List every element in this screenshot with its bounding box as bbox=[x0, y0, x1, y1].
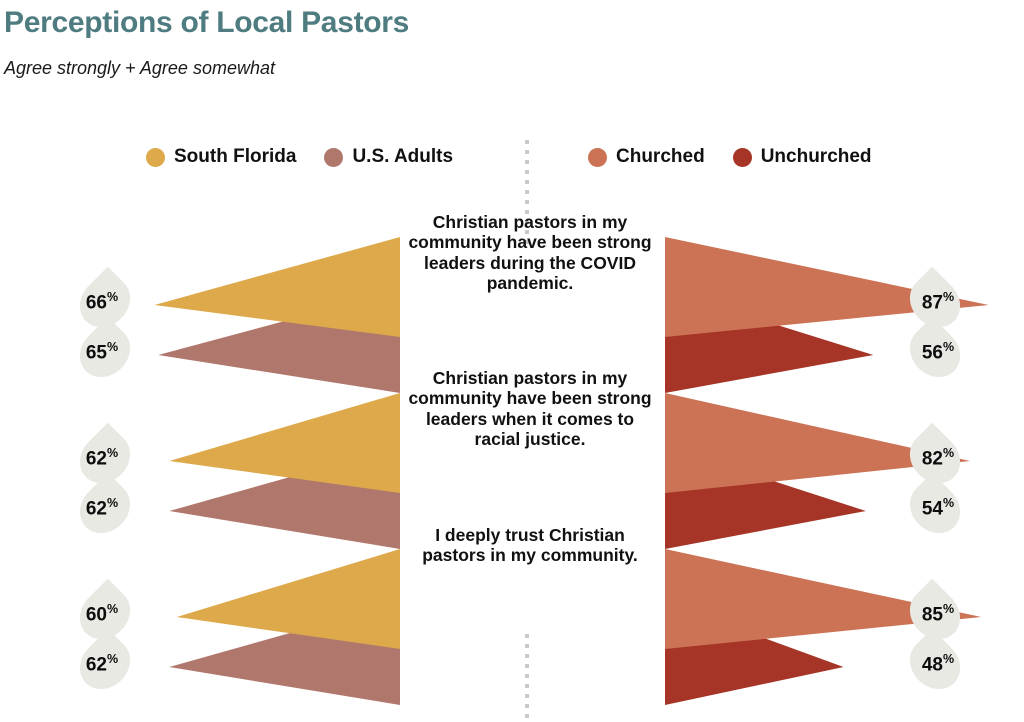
circle-swatch-icon bbox=[146, 148, 165, 167]
value-text: 87% bbox=[922, 291, 954, 312]
wedge-south-florida bbox=[154, 237, 400, 337]
circle-swatch-icon bbox=[324, 148, 343, 167]
value-text: 82% bbox=[922, 447, 954, 468]
chart-row: I deeply trust Christian pastors in my c… bbox=[0, 497, 1024, 652]
chart-plot-area: Christian pastors in my community have b… bbox=[0, 185, 1024, 722]
value-text: 60% bbox=[86, 603, 118, 624]
question-text: Christian pastors in my community have b… bbox=[405, 212, 655, 293]
legend-group-right: Churched Unchurched bbox=[588, 142, 872, 172]
legend-item-us-adults[interactable]: U.S. Adults bbox=[324, 142, 453, 172]
value-text: 54% bbox=[922, 497, 954, 518]
value-text: 65% bbox=[86, 341, 118, 362]
legend-label-us-adults: U.S. Adults bbox=[352, 146, 453, 168]
value-text: 85% bbox=[922, 603, 954, 624]
circle-swatch-icon bbox=[733, 148, 752, 167]
value-label-churched: 87% bbox=[908, 279, 962, 325]
value-text: 48% bbox=[922, 653, 954, 674]
value-label-churched: 82% bbox=[908, 435, 962, 481]
legend-label-south-florida: South Florida bbox=[174, 146, 296, 168]
wedge-south-florida bbox=[169, 393, 400, 493]
value-label-us-adults: 62% bbox=[78, 641, 132, 687]
chart-subtitle: Agree strongly + Agree somewhat bbox=[4, 58, 275, 79]
legend-group-left: South Florida U.S. Adults bbox=[146, 142, 453, 172]
value-text: 62% bbox=[86, 497, 118, 518]
chart-legend: South Florida U.S. Adults Churched Unchu… bbox=[0, 142, 1024, 172]
chart-row: Christian pastors in my community have b… bbox=[0, 341, 1024, 496]
legend-item-unchurched[interactable]: Unchurched bbox=[733, 142, 872, 172]
legend-item-south-florida[interactable]: South Florida bbox=[146, 142, 296, 172]
value-text: 62% bbox=[86, 653, 118, 674]
legend-label-churched: Churched bbox=[616, 146, 705, 168]
chart-row: Christian pastors in my community have b… bbox=[0, 185, 1024, 340]
value-label-unchurched: 48% bbox=[908, 641, 962, 687]
question-text: Christian pastors in my community have b… bbox=[405, 368, 655, 449]
page-title: Perceptions of Local Pastors bbox=[4, 6, 409, 40]
value-label-churched: 85% bbox=[908, 591, 962, 637]
circle-swatch-icon bbox=[588, 148, 607, 167]
legend-label-unchurched: Unchurched bbox=[761, 146, 872, 168]
value-text: 66% bbox=[86, 291, 118, 312]
question-text: I deeply trust Christian pastors in my c… bbox=[405, 525, 655, 566]
value-text: 62% bbox=[86, 447, 118, 468]
legend-item-churched[interactable]: Churched bbox=[588, 142, 705, 172]
value-text: 56% bbox=[922, 341, 954, 362]
wedge-group-row-3 bbox=[0, 497, 1024, 677]
